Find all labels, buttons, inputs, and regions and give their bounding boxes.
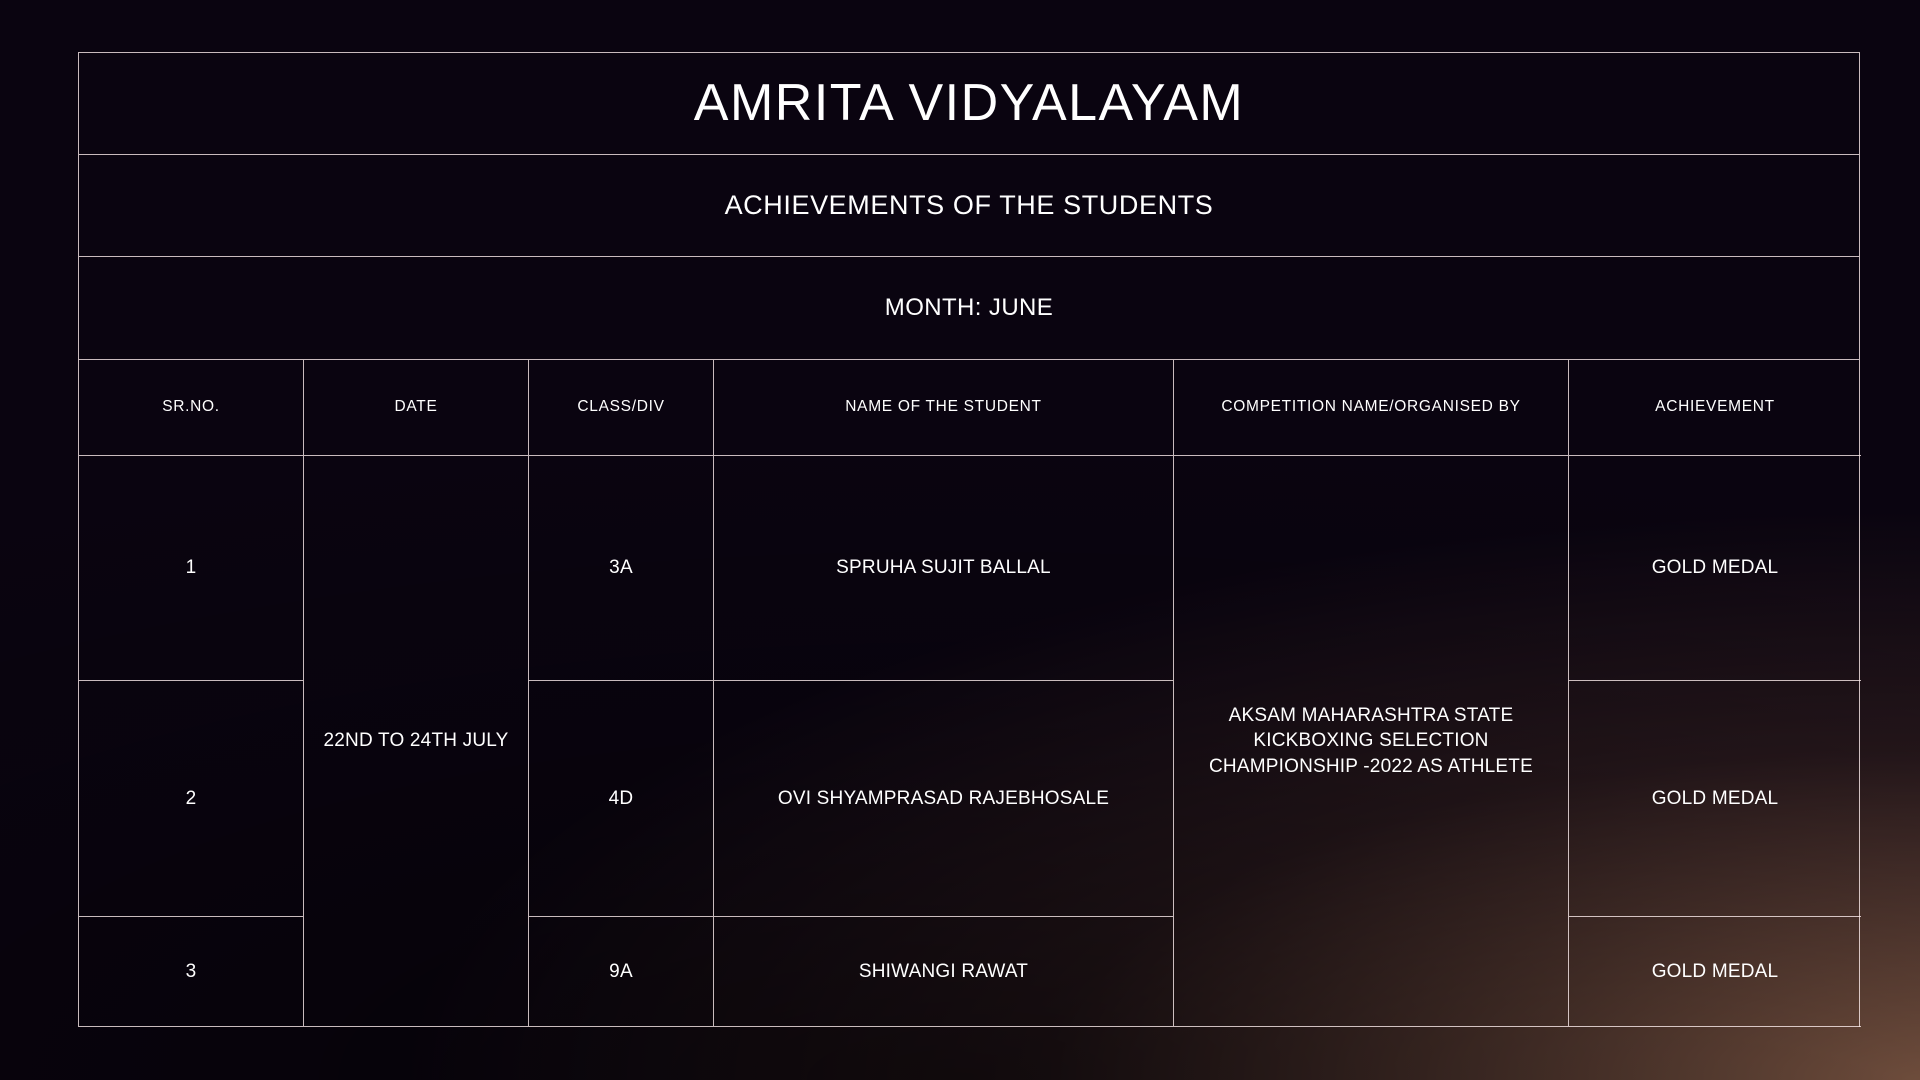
column-header-competition: COMPETITION NAME/ORGANISED BY bbox=[1174, 360, 1569, 456]
table-row: 4D bbox=[529, 681, 714, 917]
table-row: 3 bbox=[79, 917, 304, 1027]
table-row: 9A bbox=[529, 917, 714, 1027]
table-row: SHIWANGI RAWAT bbox=[714, 917, 1174, 1027]
page-title: AMRITA VIDYALAYAM bbox=[79, 53, 1859, 155]
table-row: 1 bbox=[79, 456, 304, 681]
merged-competition-cell: AKSAM MAHARASHTRA STATE KICKBOXING SELEC… bbox=[1174, 456, 1569, 1027]
table-row: GOLD MEDAL bbox=[1569, 681, 1861, 917]
column-header-class-div: CLASS/DIV bbox=[529, 360, 714, 456]
table-row: 3A bbox=[529, 456, 714, 681]
merged-date-cell: 22ND TO 24TH JULY bbox=[304, 456, 529, 1027]
table-row: OVI SHYAMPRASAD RAJEBHOSALE bbox=[714, 681, 1174, 917]
column-header-student-name: NAME OF THE STUDENT bbox=[714, 360, 1174, 456]
table-row: 2 bbox=[79, 681, 304, 917]
table-row: GOLD MEDAL bbox=[1569, 456, 1861, 681]
page-subtitle: ACHIEVEMENTS OF THE STUDENTS bbox=[79, 155, 1859, 258]
month-label: MONTH: JUNE bbox=[79, 257, 1859, 360]
table-row: GOLD MEDAL bbox=[1569, 917, 1861, 1027]
column-header-sr-no: SR.NO. bbox=[79, 360, 304, 456]
column-header-date: DATE bbox=[304, 360, 529, 456]
column-header-achievement: ACHIEVEMENT bbox=[1569, 360, 1861, 456]
table-row: SPRUHA SUJIT BALLAL bbox=[714, 456, 1174, 681]
achievements-table: AMRITA VIDYALAYAM ACHIEVEMENTS OF THE ST… bbox=[78, 52, 1860, 1027]
table-grid: SR.NO. DATE CLASS/DIV NAME OF THE STUDEN… bbox=[79, 360, 1859, 1027]
